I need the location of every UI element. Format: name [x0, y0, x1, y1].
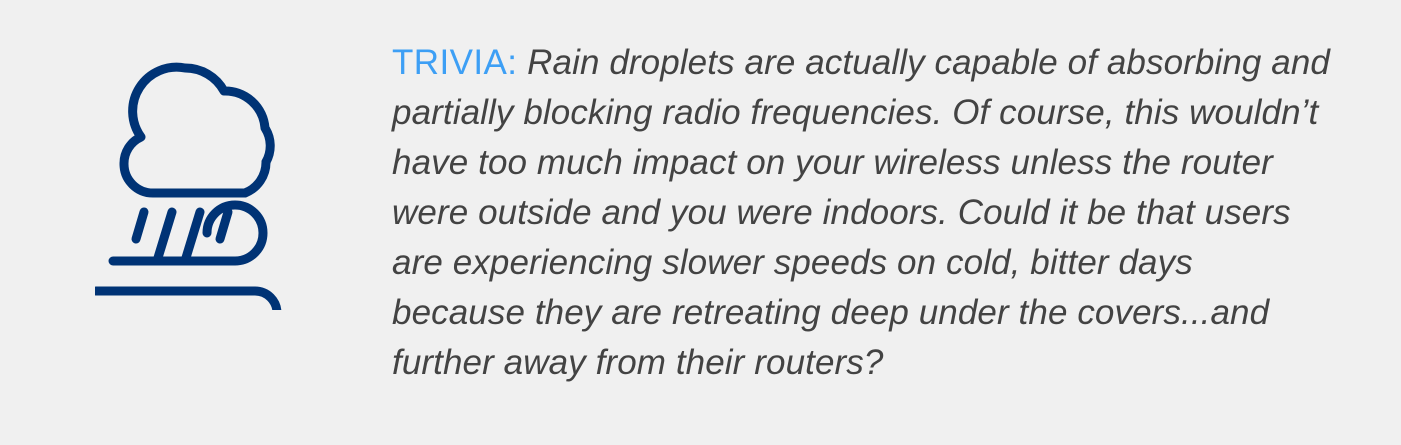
rain-and-wind-icon	[95, 50, 315, 310]
trivia-body-text: Rain droplets are actually capable of ab…	[392, 43, 1330, 382]
wind-lines-icon	[96, 205, 277, 310]
trivia-text-block: TRIVIA: Rain droplets are actually capab…	[392, 38, 1332, 388]
trivia-paragraph: TRIVIA: Rain droplets are actually capab…	[392, 38, 1332, 388]
trivia-card: TRIVIA: Rain droplets are actually capab…	[0, 0, 1401, 445]
cloud-icon	[124, 67, 270, 193]
trivia-label: TRIVIA:	[392, 43, 517, 82]
